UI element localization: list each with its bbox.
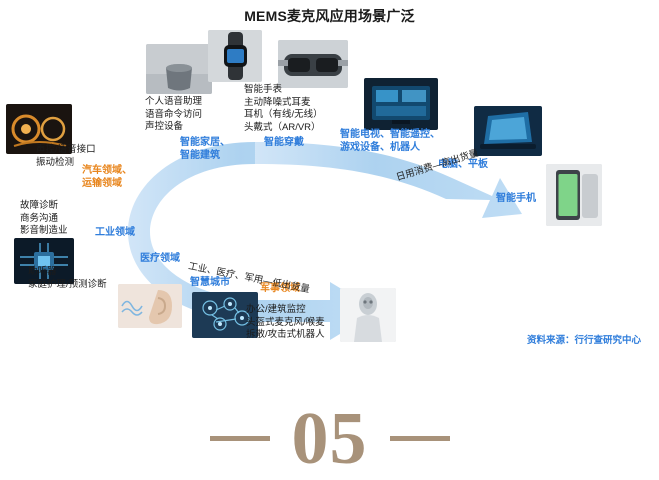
domain-label-smart-home: 智能家居、 智能建筑 — [180, 136, 230, 162]
thumbnail-smart-tv — [364, 78, 438, 130]
domain-label-tv-game-robot: 智能电视、智能遥控、 游戏设备、机器人 — [340, 128, 440, 154]
thumbnail-ar-headset — [278, 40, 348, 88]
domain-label-industrial: 工业领域 — [95, 226, 135, 239]
page-title: MEMS麦克风应用场景广泛 — [0, 6, 659, 26]
hearing-aid-icon — [118, 284, 182, 328]
laptop-tablet-icon — [474, 106, 542, 156]
smart-speaker-icon — [146, 44, 212, 94]
section-number-block: 05 — [0, 398, 659, 479]
infographic-canvas: MEMS麦克风应用场景广泛 — [0, 0, 659, 479]
thumbnail-smart-speaker — [146, 44, 212, 94]
applications-military: 办公/建筑监控 头盔式麦克风/喉麦 拆散/攻击式机器人 — [246, 304, 325, 342]
smart-watch-icon — [208, 30, 262, 82]
section-divider-left — [210, 436, 270, 441]
applications-medical: 助听器 家庭护理/预测诊断 — [28, 266, 107, 291]
section-number: 05 — [292, 402, 368, 476]
source-note: 资料来源：行行查研究中心 — [527, 332, 641, 346]
thumbnail-smart-watch — [208, 30, 262, 82]
smartphone-icon — [546, 164, 602, 226]
thumbnail-laptop-tablet — [474, 106, 542, 156]
applications-voice-assistant: 个人语音助理 语音命令访问 声控设备 — [145, 96, 202, 134]
military-robot-icon — [340, 288, 396, 342]
domain-label-smartphone: 智能手机 — [496, 192, 536, 205]
thumbnail-hearing-aid — [118, 284, 182, 328]
smart-tv-icon — [364, 78, 438, 130]
applications-industrial: 故障诊断 商务沟通 影音制造业 — [20, 200, 68, 238]
thumbnail-military-robot — [340, 288, 396, 342]
domain-label-medical: 医疗领域 — [140, 252, 180, 265]
domain-label-automotive: 汽车领域、 运输领域 — [82, 164, 132, 190]
applications-wearable: 智能手表 主动降噪式耳麦 耳机（有线/无线） 头戴式（AR/VR） — [244, 84, 323, 134]
thumbnail-smartphone — [546, 164, 602, 226]
ar-headset-icon — [278, 40, 348, 88]
domain-label-wearable: 智能穿戴 — [264, 136, 304, 149]
section-divider-right — [390, 436, 450, 441]
